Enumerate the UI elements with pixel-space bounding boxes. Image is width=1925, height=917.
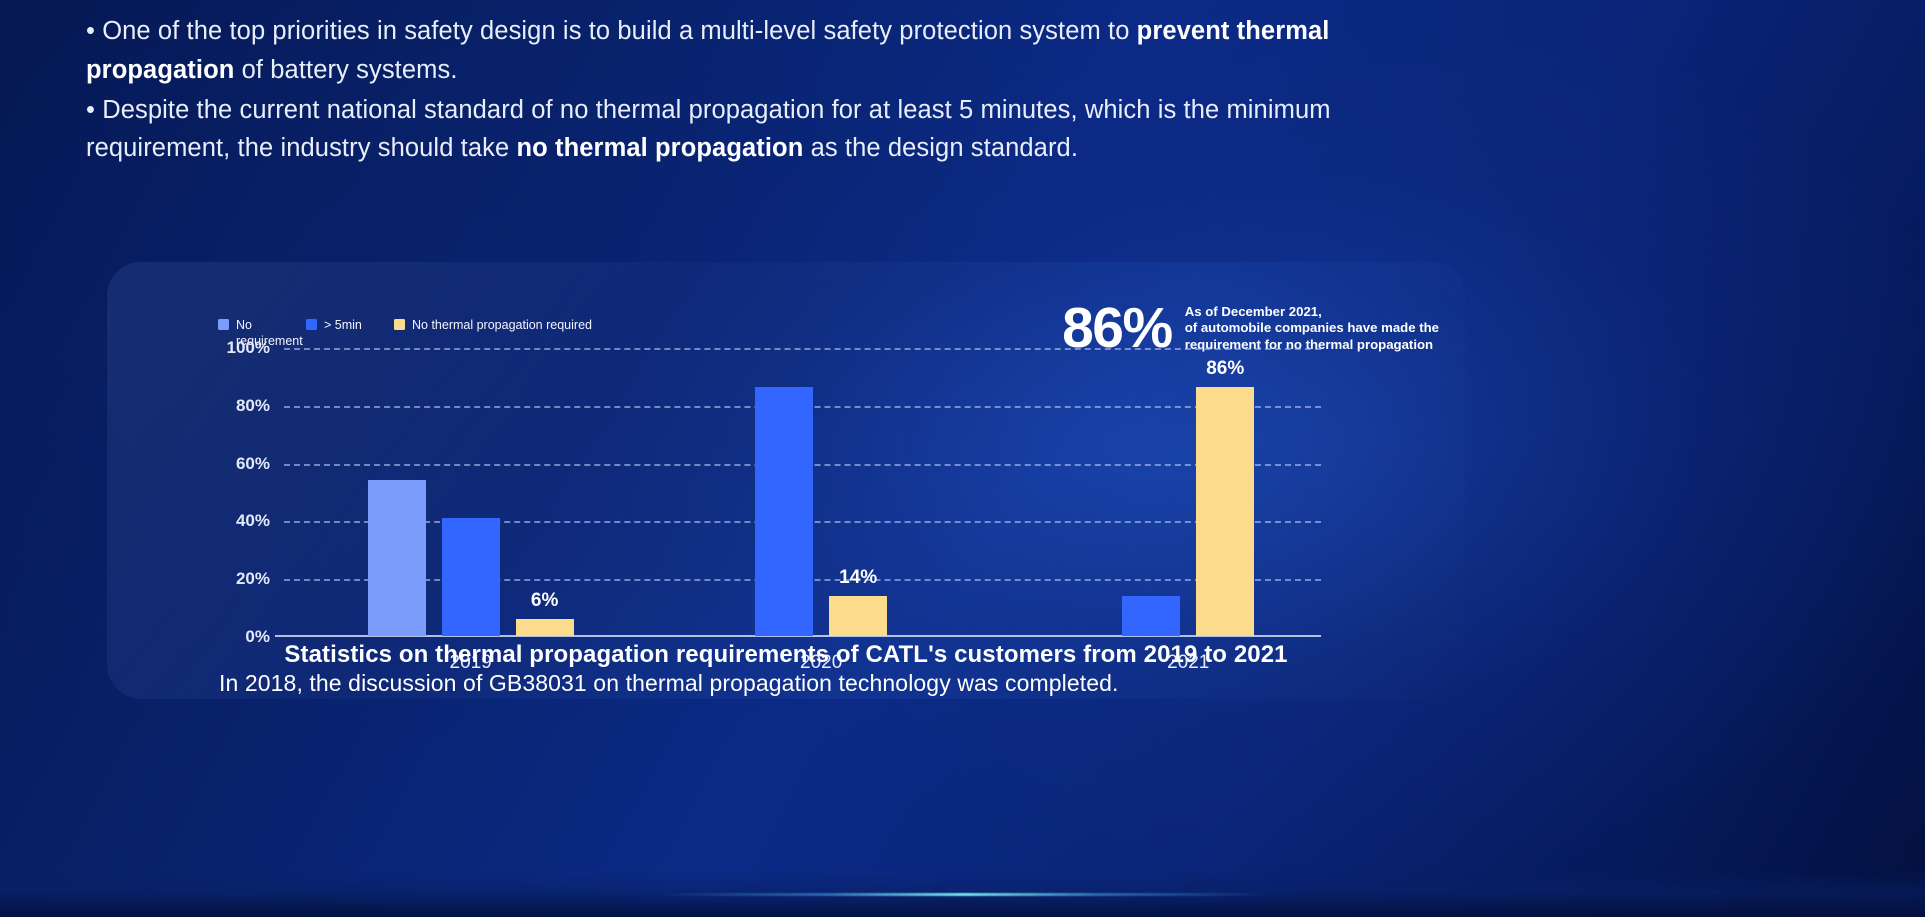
bar-2019-series-1[interactable] [442,518,500,636]
callout-line-1: As of December 2021, [1185,304,1439,321]
intro-bullet-2-bold: no thermal propagation [516,134,803,162]
legend-item-label: No thermal propagation required [412,317,592,333]
legend-item-2[interactable]: No thermal propagation required [394,317,592,333]
bottom-glow-divider [0,871,1925,917]
footnote-text: In 2018, the discussion of GB38031 on th… [219,670,1118,697]
intro-bullet-2-post: as the design standard. [803,134,1078,162]
y-axis-tick-label: 100% [227,338,270,358]
legend-item-1[interactable]: > 5min [306,317,394,333]
y-axis-tick-label: 40% [236,511,270,531]
legend-swatch-icon [306,319,317,330]
bar-value-label: 14% [839,567,877,589]
chart-card: No requirement> 5minNo thermal propagati… [107,262,1465,699]
intro-bullet-1-post: of battery systems. [234,56,457,84]
y-axis-tick-label: 20% [236,569,270,589]
bar-2021-series-1[interactable] [1122,596,1180,636]
y-axis-tick-label: 80% [236,396,270,416]
chart-caption: Statistics on thermal propagation requir… [107,641,1465,669]
legend-swatch-icon [394,319,405,330]
legend-item-label: > 5min [324,317,362,333]
legend-swatch-icon [218,319,229,330]
intro-bullet-1-pre: • One of the top priorities in safety de… [86,17,1137,45]
intro-bullet-2: • Despite the current national standard … [86,91,1376,169]
bar-2021-series-2[interactable]: 86% [1196,387,1254,636]
bar-value-label: 6% [531,590,558,612]
bar-value-label: 86% [1206,358,1244,380]
callout-line-2: of automobile companies have made the [1185,320,1439,337]
bar-2019-series-0[interactable] [368,480,426,636]
intro-bullet-1: • One of the top priorities in safety de… [86,12,1376,90]
intro-text-block: • One of the top priorities in safety de… [86,12,1376,169]
y-axis-tick-label: 60% [236,454,270,474]
chart-plot-area: 0%20%40%60%80%100%6%201914%202086%2021 [284,348,1321,637]
chart-legend: No requirement> 5minNo thermal propagati… [218,317,592,349]
callout-description: As of December 2021, of automobile compa… [1185,304,1439,354]
bar-2020-series-1[interactable] [755,387,813,636]
bar-2020-series-2[interactable]: 14% [829,596,887,636]
bar-2019-series-2[interactable]: 6% [516,619,574,636]
gridline [284,348,1321,350]
